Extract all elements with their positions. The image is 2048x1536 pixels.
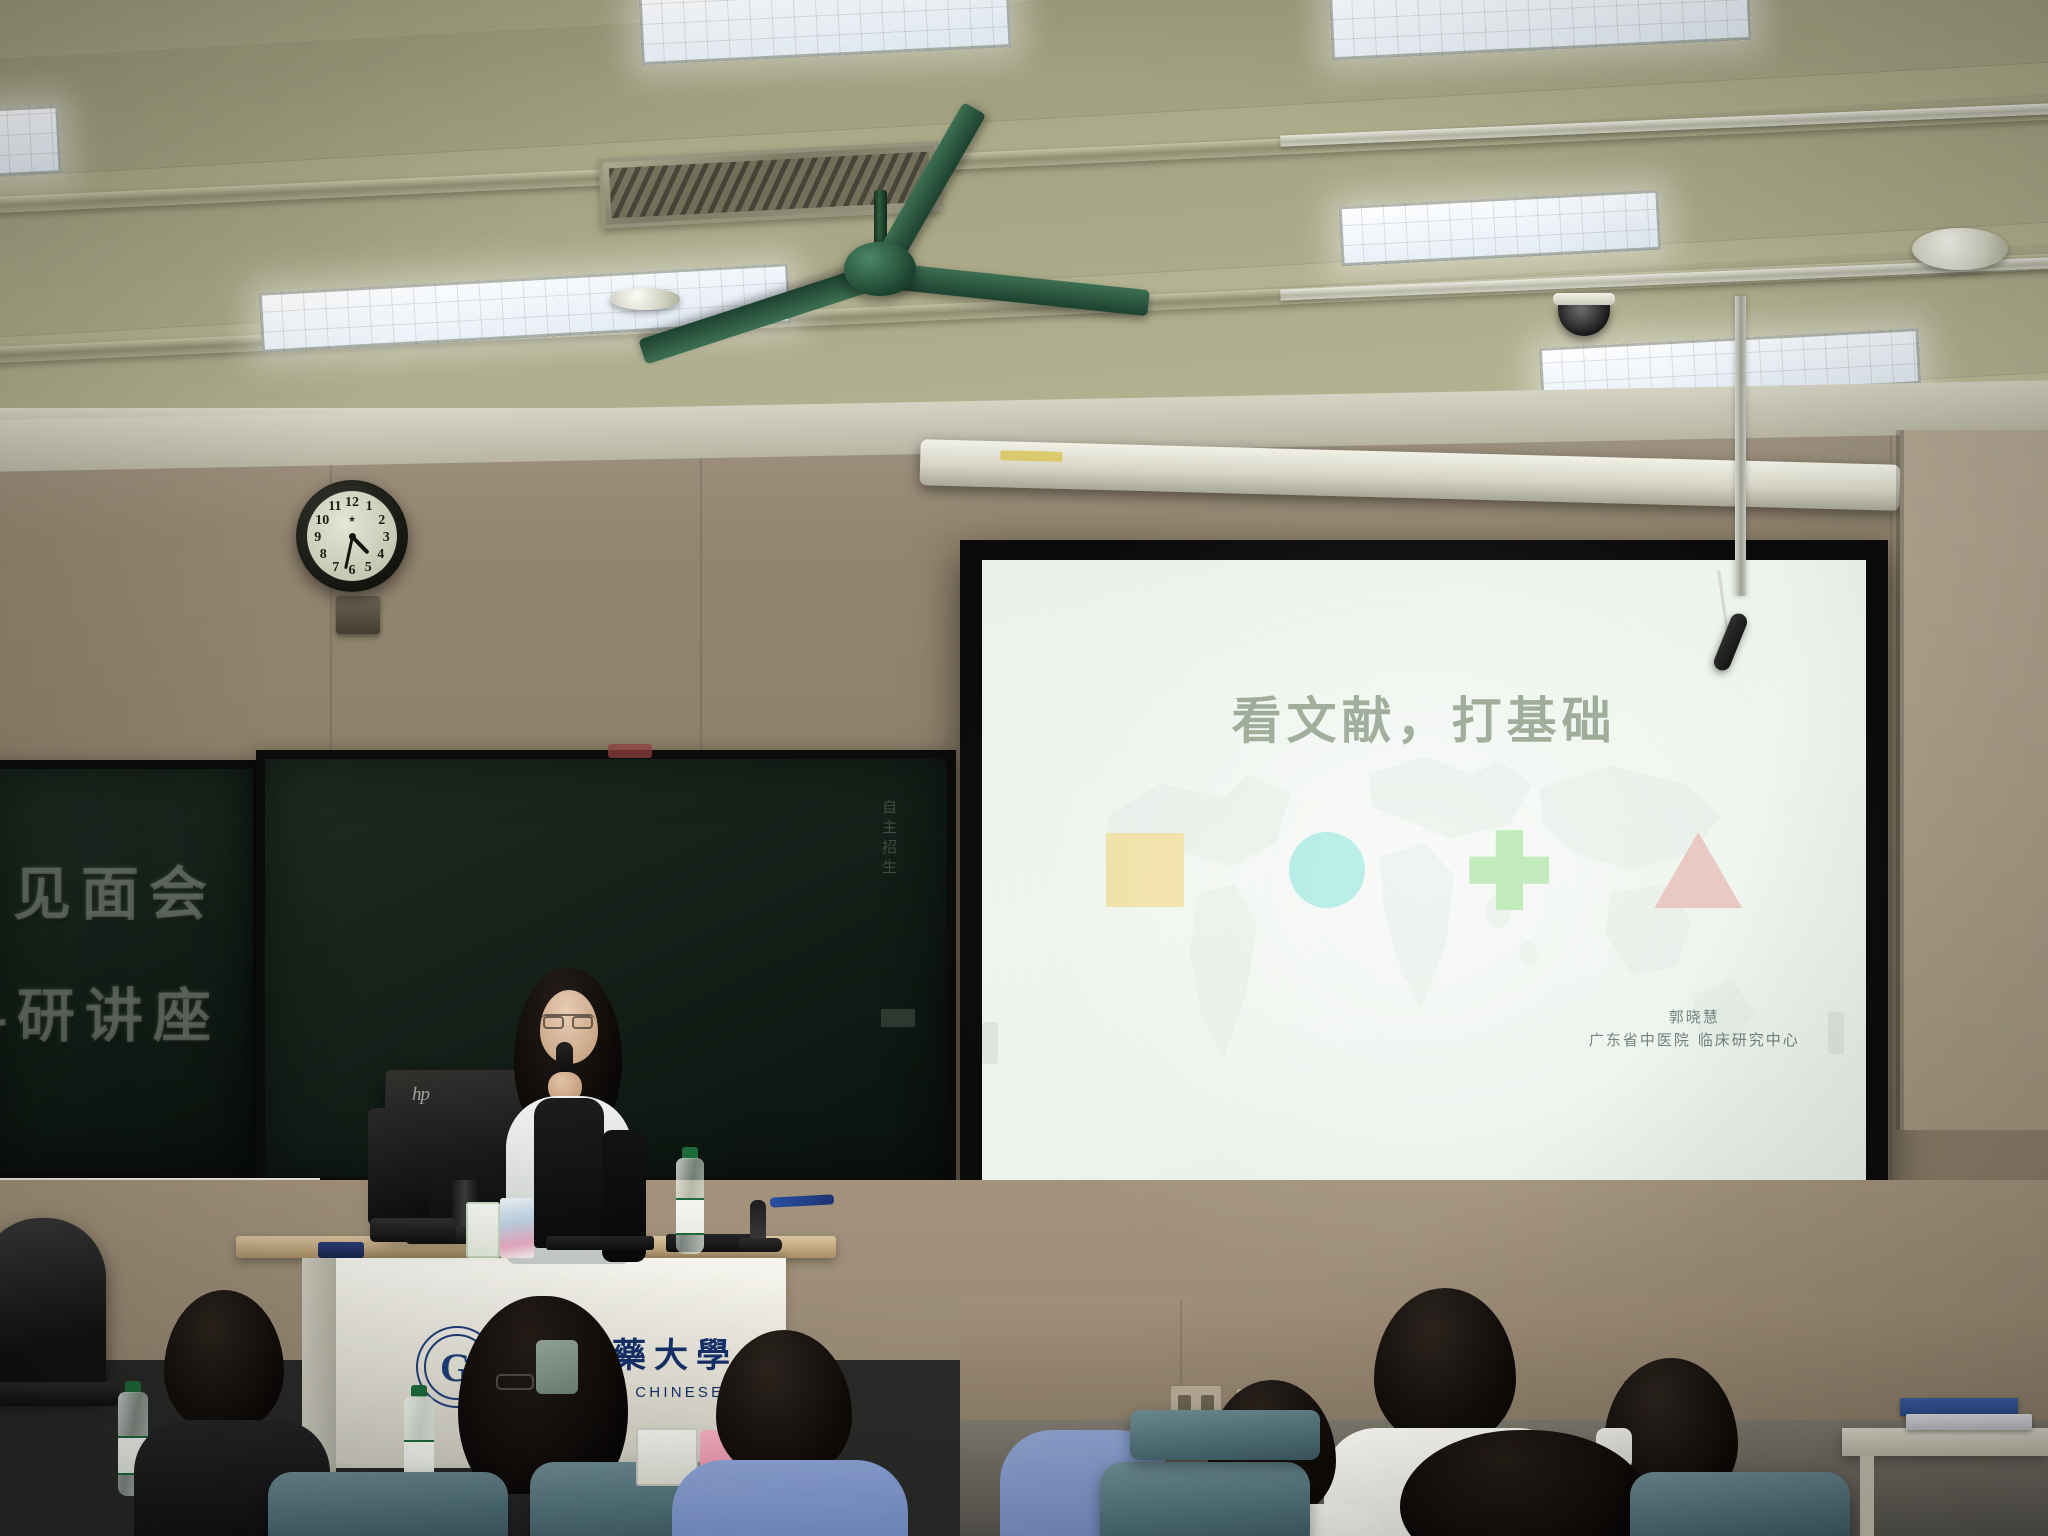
presenter-organization: 广东省中医院 临床研究中心 <box>1589 1029 1800 1052</box>
slide-credit-block: 郭晓慧 广东省中医院 临床研究中心 <box>1589 1006 1800 1051</box>
blackboard-text-line-2: 科研讲座 <box>0 969 221 1053</box>
clock-numeral: 5 <box>365 560 372 576</box>
clock-numeral: 11 <box>328 499 341 515</box>
slide-canvas: 看文献，打基础 郭晓慧 广东省中医院 临床研究中心 2025/4/29 1 ▾ <box>982 560 1866 1274</box>
clock-numeral: 1 <box>366 499 373 515</box>
remote-control <box>546 1236 654 1250</box>
sprinkler-head <box>1938 336 1960 358</box>
projection-screen-surface: 看文献，打基础 郭晓慧 广东省中医院 临床研究中心 2025/4/29 1 ▾ <box>982 560 1866 1274</box>
clock-numeral: 7 <box>332 560 339 576</box>
slide-shape-row <box>1106 824 1743 916</box>
sprinkler-head <box>1322 258 1344 280</box>
audience-chair[interactable] <box>1630 1472 1850 1536</box>
clock-numeral: 4 <box>377 547 384 563</box>
slide-shape-square <box>1106 833 1184 907</box>
clock-numeral: 8 <box>320 547 327 563</box>
book <box>1906 1414 2032 1430</box>
sprinkler-head <box>1330 48 1352 70</box>
slide-shape-cross <box>1469 830 1549 910</box>
clock-numeral: 12 <box>345 495 359 511</box>
stapler <box>318 1242 364 1258</box>
blackboard-clip <box>608 744 652 758</box>
audience-chair[interactable] <box>268 1472 508 1536</box>
chalk-smudge <box>881 1009 915 1027</box>
blackboard-left: 见面会 科研讲座 <box>0 760 258 1180</box>
clock-numeral: 9 <box>314 530 321 546</box>
slide-shape-circle <box>1289 832 1365 908</box>
clock-brand-mark: ★ <box>348 514 356 525</box>
projector-mount-pole <box>1735 296 1746 596</box>
blackboard-text-line-1: 见面会 <box>13 847 217 931</box>
blackboard-side-note: 自主招生 <box>878 799 899 989</box>
office-chair-seat[interactable] <box>0 1382 120 1406</box>
audience-member <box>1400 1430 1650 1536</box>
clock-numeral: 3 <box>383 530 390 546</box>
lecture-hall-photo: 12 1 2 3 4 5 6 7 8 9 10 11 ★ 见面会 科研讲座 自主… <box>0 0 2048 1536</box>
glasses-icon <box>496 1374 534 1390</box>
screen-side-hook <box>982 1022 998 1064</box>
clock-numeral: 2 <box>378 513 385 529</box>
slide-title: 看文献，打基础 <box>982 681 1866 753</box>
sprinkler-head <box>448 110 470 132</box>
screen-case-label <box>1000 450 1062 462</box>
tissue-box <box>500 1198 534 1258</box>
office-chair[interactable] <box>0 1218 106 1398</box>
glasses-lens-right <box>572 1016 593 1029</box>
clock-mount <box>336 596 380 634</box>
snack-box <box>466 1202 500 1258</box>
presenter-vest <box>534 1098 604 1248</box>
audience-chair[interactable] <box>1100 1462 1310 1536</box>
hair-clip <box>536 1340 578 1394</box>
equipment-base <box>370 1218 456 1242</box>
clock-numeral: 10 <box>315 513 329 529</box>
slide-shape-triangle <box>1654 832 1742 908</box>
wall-edge <box>1896 430 1904 1130</box>
monitor-brand-label: hp <box>412 1084 429 1106</box>
audience-torso <box>672 1460 908 1536</box>
presenter-name: 郭晓慧 <box>1589 1006 1800 1029</box>
desk-microphone-base <box>738 1238 782 1252</box>
side-table-leg <box>1860 1456 1874 1536</box>
glasses-lens-left <box>543 1016 564 1029</box>
wall-clock: 12 1 2 3 4 5 6 7 8 9 10 11 ★ <box>296 480 408 592</box>
ceiling-speaker-round <box>610 288 680 310</box>
smoke-detector <box>1912 228 2008 270</box>
camera-arm <box>368 1108 430 1226</box>
right-wall-column <box>1900 430 2048 1130</box>
screen-side-hook <box>1828 1012 1844 1054</box>
water-bottle <box>676 1158 704 1254</box>
clock-numeral: 6 <box>349 563 356 579</box>
audience-bench[interactable] <box>1130 1410 1320 1460</box>
side-table <box>1842 1428 2048 1456</box>
audience-member <box>682 1330 892 1536</box>
ceiling-light-panel <box>0 105 62 179</box>
ceiling-fan <box>840 190 920 310</box>
